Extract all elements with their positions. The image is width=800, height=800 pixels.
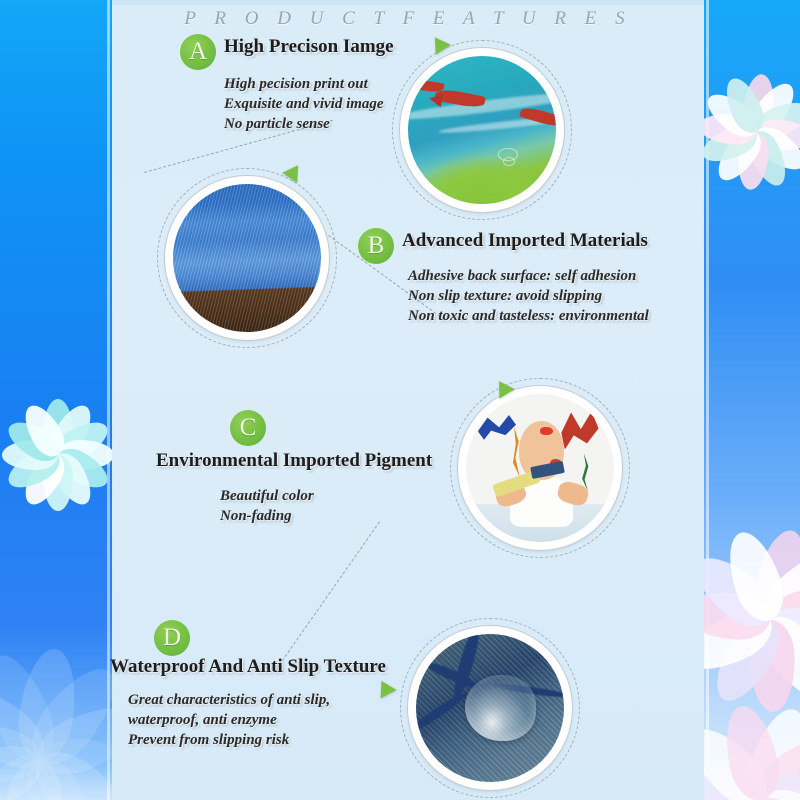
- feature-d-arrow-icon: [374, 677, 397, 699]
- feature-c-lines: Beautiful color Non-fading: [220, 486, 314, 526]
- feature-d-line-1: Great characteristics of anti slip,: [128, 690, 330, 710]
- feature-c-photo: [450, 378, 630, 558]
- feature-d-line-3: Prevent from slipping risk: [128, 730, 330, 750]
- feature-c-image: [466, 394, 614, 542]
- feature-b-line-1: Adhesive back surface: self adhesion: [408, 266, 649, 286]
- feature-d-line-2: waterproof, anti enzyme: [128, 710, 330, 730]
- content-panel: P R O D U C T F E A T U R E S: [112, 0, 704, 800]
- baby-painting-image: [466, 394, 614, 542]
- left-decorative-border: [0, 0, 112, 800]
- feature-b-lines: Adhesive back surface: self adhesion Non…: [408, 266, 649, 326]
- feature-b-photo: [157, 168, 337, 348]
- feature-b-line-3: Non toxic and tasteless: environmental: [408, 306, 649, 326]
- feature-c-title: Environmental Imported Pigment: [156, 450, 432, 472]
- feature-a-photo: [392, 40, 572, 220]
- feature-a-image: [408, 56, 556, 204]
- feature-a-line-2: Exquisite and vivid image: [224, 94, 384, 114]
- feature-c-line-2: Non-fading: [220, 506, 314, 526]
- feature-b-title: Advanced Imported Materials: [402, 230, 648, 252]
- feature-c-badge: C: [230, 410, 266, 446]
- droplet-shape: [465, 675, 536, 740]
- connector-c-to-d: [282, 521, 380, 661]
- feature-b-line-2: Non slip texture: avoid slipping: [408, 286, 649, 306]
- feature-a-badge: A: [180, 34, 216, 70]
- feature-b-image: [173, 184, 321, 332]
- feature-a-title: High Precison Iamge: [224, 36, 394, 58]
- feature-c-line-1: Beautiful color: [220, 486, 314, 506]
- feature-c-image-frame: [460, 388, 620, 548]
- blue-fabric-image: [173, 184, 321, 332]
- feature-d-image-frame: [410, 628, 570, 788]
- panel-top-bar: [112, 0, 704, 5]
- page-title: P R O D U C T F E A T U R E S: [112, 8, 704, 30]
- feature-a-line-3: No particle sense: [224, 114, 384, 134]
- feature-b-badge: B: [358, 228, 394, 264]
- feature-d-lines: Great characteristics of anti slip, wate…: [128, 690, 330, 750]
- feature-a-line-1: High pecision print out: [224, 74, 384, 94]
- feature-b-image-frame: [167, 178, 327, 338]
- right-decorative-border: [704, 0, 800, 800]
- feature-d-badge: D: [154, 620, 190, 656]
- feature-d-image: [416, 634, 564, 782]
- feature-d-photo: [400, 618, 580, 798]
- feature-d-title: Waterproof And Anti Slip Texture: [110, 656, 386, 678]
- infographic-page: P R O D U C T F E A T U R E S: [0, 0, 800, 800]
- koi-fish-image: [408, 56, 556, 204]
- feature-a-lines: High pecision print out Exquisite and vi…: [224, 74, 384, 134]
- water-droplet-image: [416, 634, 564, 782]
- feature-a-image-frame: [402, 50, 562, 210]
